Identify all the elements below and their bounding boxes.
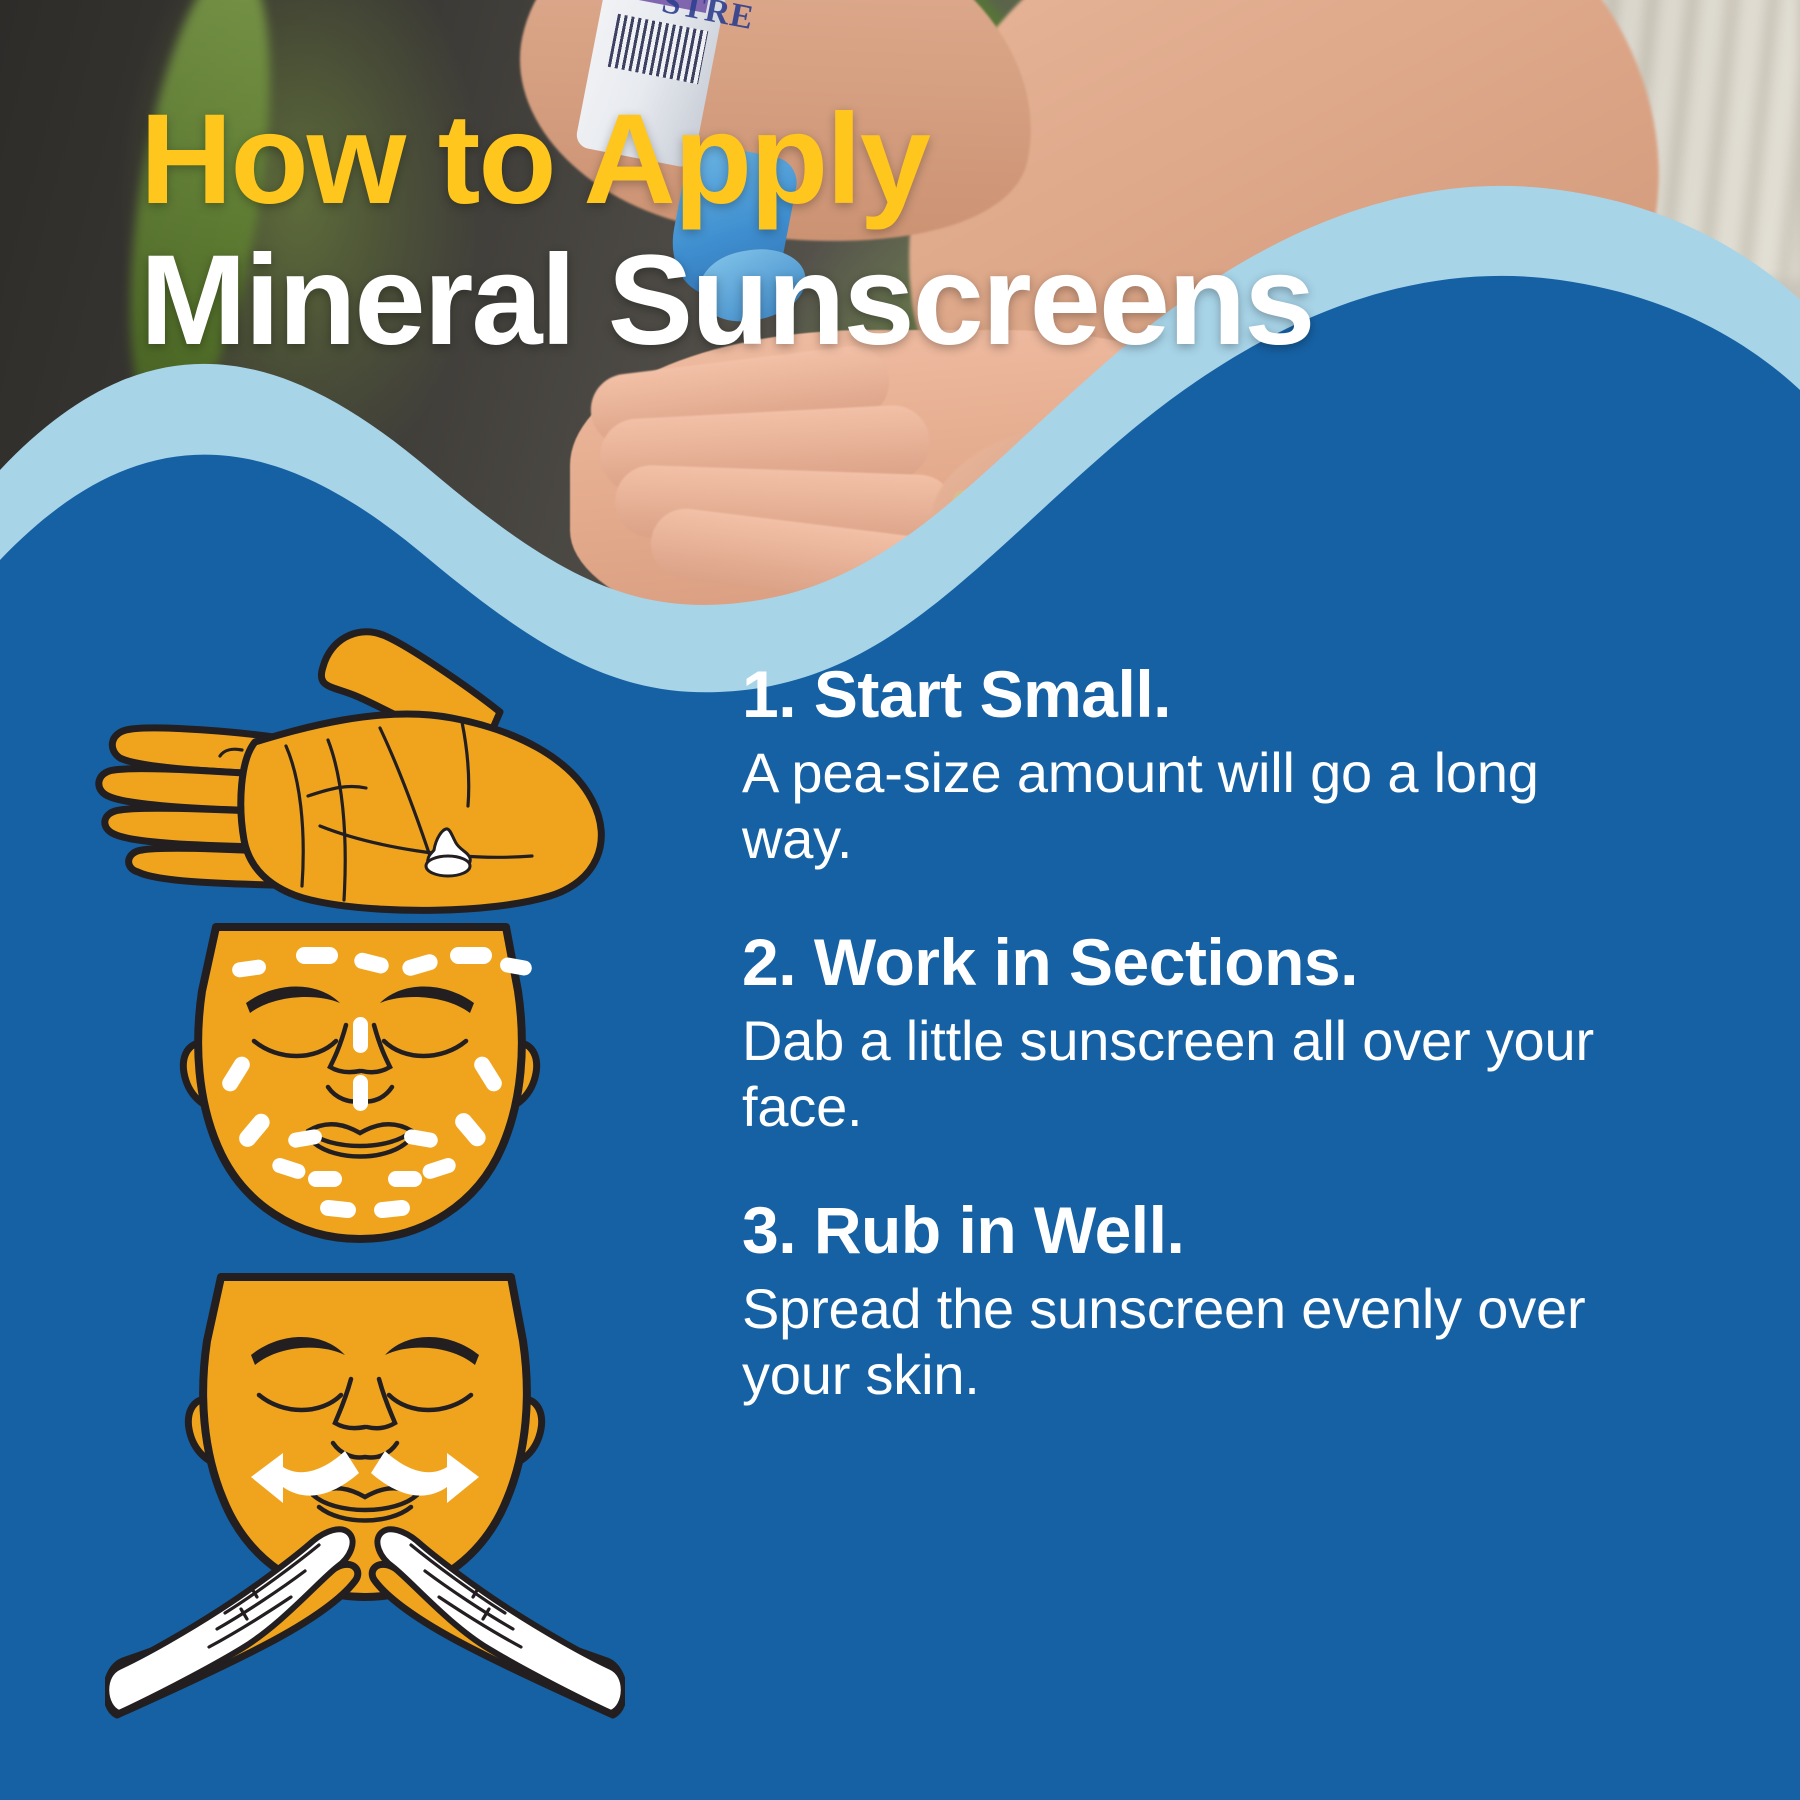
title-line-2: Mineral Sunscreens — [140, 234, 1700, 368]
step-1-body: A pea-size amount will go a long way. — [742, 740, 1662, 872]
step-3-title: 3. Rub in Well. — [742, 1196, 1742, 1266]
illustration-open-palm — [80, 600, 620, 920]
step-2-title: 2. Work in Sections. — [742, 928, 1742, 998]
poster-title: How to Apply Mineral Sunscreens — [140, 96, 1700, 368]
step-item-2: 2. Work in Sections. Dab a little sunscr… — [742, 928, 1742, 1140]
step-3-body: Spread the sunscreen evenly over your sk… — [742, 1276, 1662, 1408]
right-hand — [372, 1529, 624, 1715]
step-item-3: 3. Rub in Well. Spread the sunscreen eve… — [742, 1196, 1742, 1408]
illustration-face-with-dots — [150, 895, 570, 1255]
step-1-title: 1. Start Small. — [742, 660, 1742, 730]
title-line-1: How to Apply — [140, 96, 1700, 224]
illustration-rub-in-face — [105, 1215, 625, 1775]
left-hand — [106, 1529, 358, 1715]
steps-list: 1. Start Small. A pea-size amount will g… — [742, 660, 1742, 1408]
step-2-body: Dab a little sunscreen all over your fac… — [742, 1008, 1662, 1140]
step-item-1: 1. Start Small. A pea-size amount will g… — [742, 660, 1742, 872]
infographic-poster: STRE How to Apply Mineral Sunscreens — [0, 0, 1800, 1800]
